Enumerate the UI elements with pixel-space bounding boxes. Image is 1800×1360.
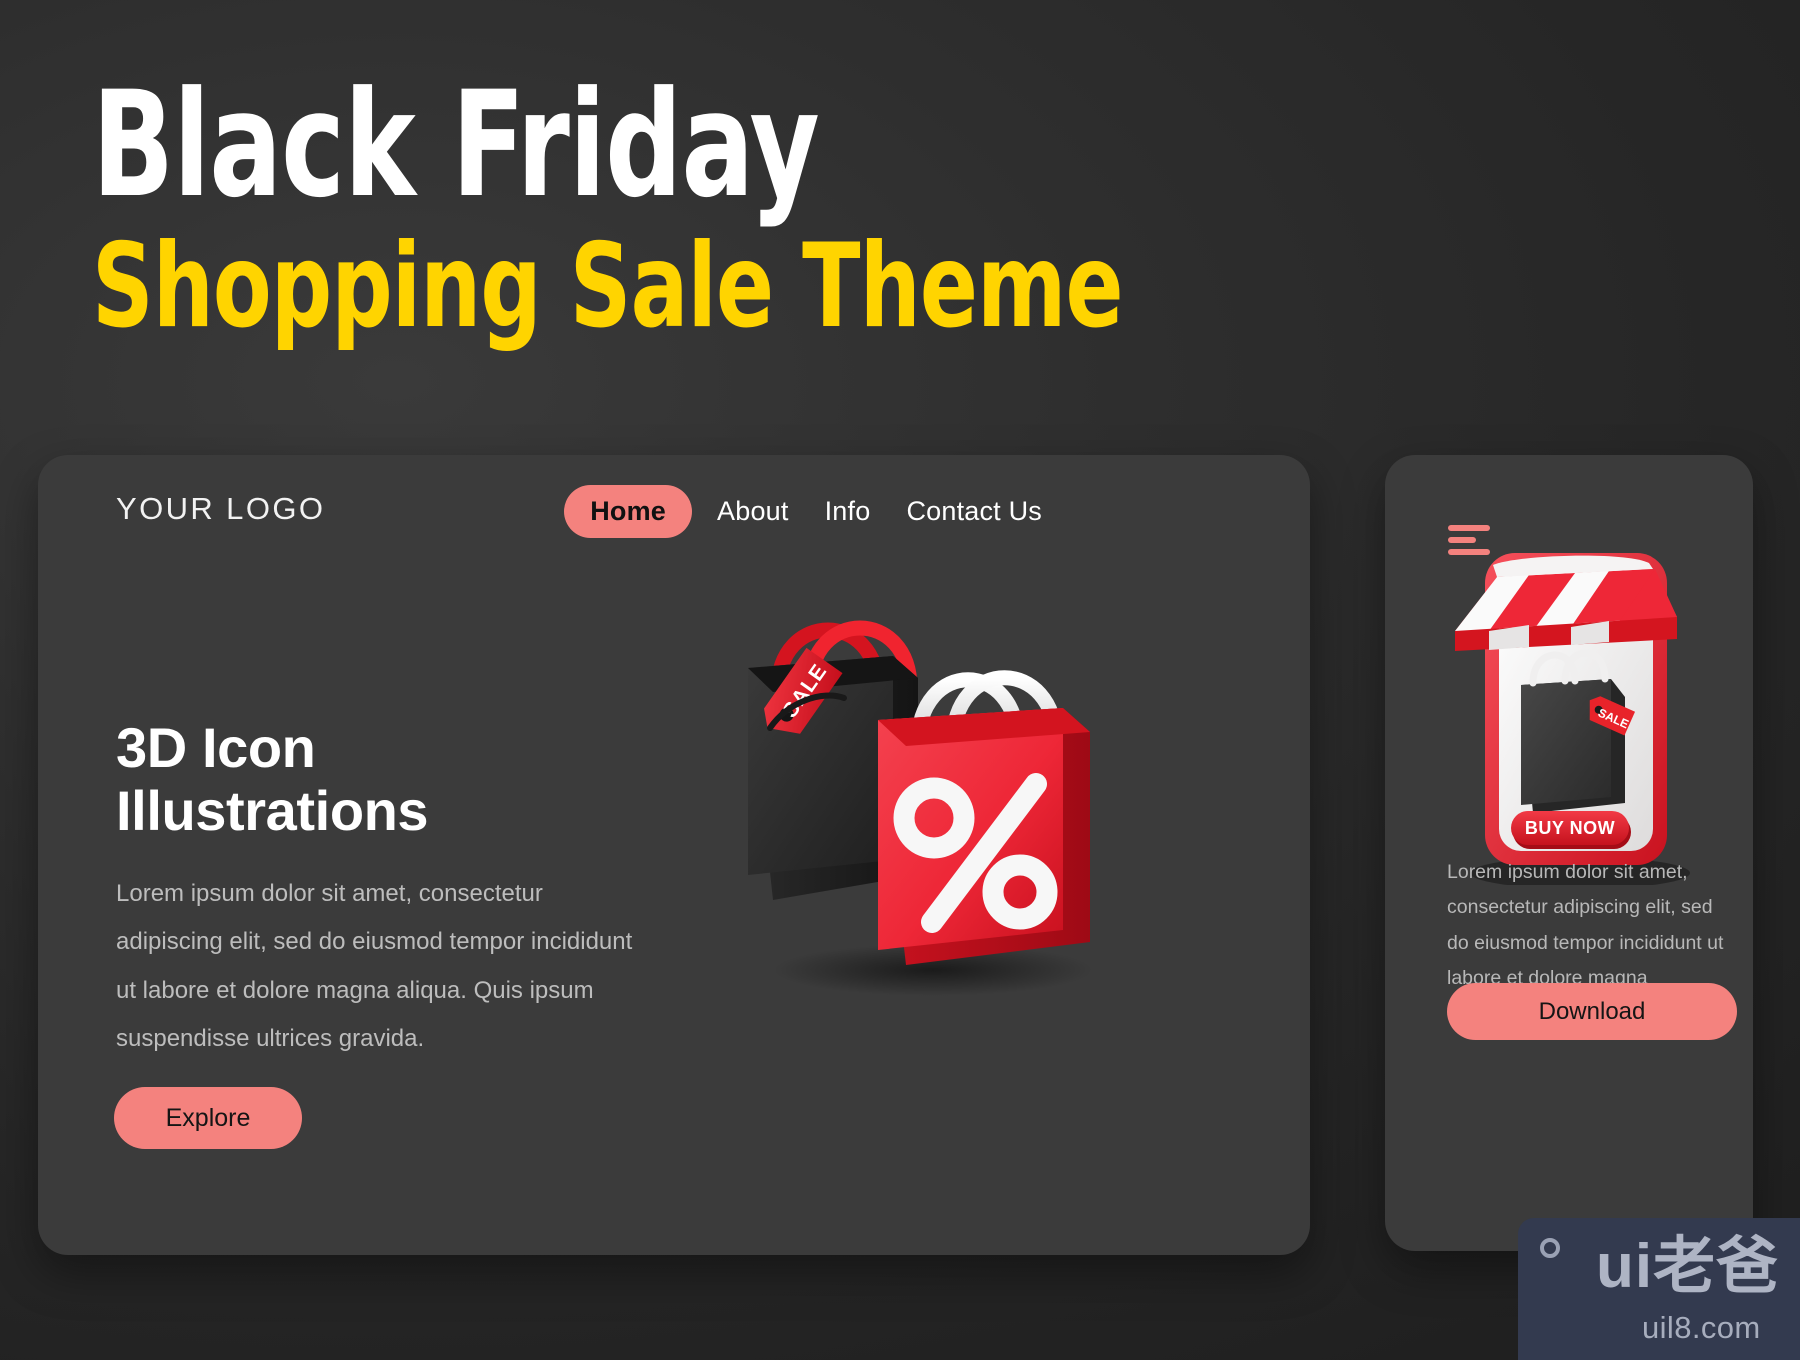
site-logo[interactable]: YOUR LOGO xyxy=(116,491,325,527)
nav-item-info[interactable]: Info xyxy=(807,496,889,527)
page-background: Black Friday Shopping Sale Theme YOUR LO… xyxy=(0,0,1800,1360)
explore-button[interactable]: Explore xyxy=(114,1087,302,1149)
side-description: Lorem ipsum dolor sit amet, consectetur … xyxy=(1447,855,1737,997)
nav-item-contact-us[interactable]: Contact Us xyxy=(888,496,1060,527)
hero-subtitle: Shopping Sale Theme xyxy=(92,234,1123,341)
hamburger-line-1 xyxy=(1448,525,1490,531)
shopping-bags-illustration: SALE xyxy=(718,570,1138,1000)
watermark-ring-icon xyxy=(1540,1238,1560,1258)
hero-titles: Black Friday Shopping Sale Theme xyxy=(92,78,1349,341)
hero-title: Black Friday xyxy=(92,78,1123,212)
nav-item-home[interactable]: Home xyxy=(564,485,692,538)
side-promo-card: SALE BUY NOW Lorem ipsum dolor sit amet,… xyxy=(1385,455,1753,1251)
watermark-url: uil8.com xyxy=(1642,1310,1761,1346)
main-description: Lorem ipsum dolor sit amet, consectetur … xyxy=(116,870,646,1064)
main-navigation: Home About Info Contact Us xyxy=(564,485,1060,538)
download-button[interactable]: Download xyxy=(1447,983,1737,1040)
svg-text:BUY NOW: BUY NOW xyxy=(1525,818,1615,838)
watermark-overlay: ui老爸 uil8.com xyxy=(1518,1218,1800,1360)
mobile-store-illustration: SALE BUY NOW xyxy=(1425,535,1725,885)
watermark-brand: ui老爸 xyxy=(1596,1236,1779,1298)
page-title: 3D Icon Illustrations xyxy=(116,717,428,842)
nav-item-about[interactable]: About xyxy=(699,496,807,527)
main-content-card: YOUR LOGO Home About Info Contact Us 3D … xyxy=(38,455,1310,1255)
